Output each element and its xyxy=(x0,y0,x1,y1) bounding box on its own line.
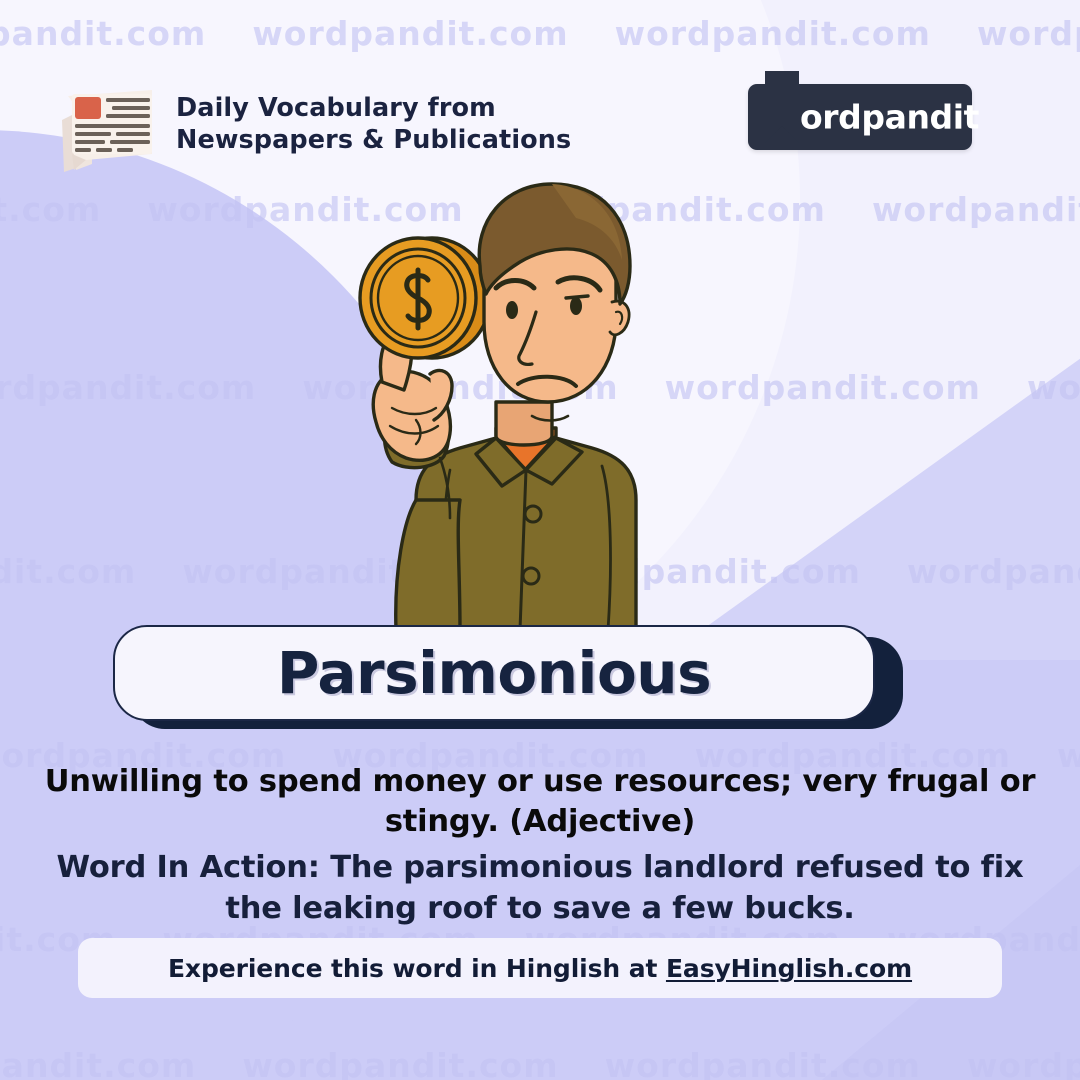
header-tagline: Daily Vocabulary from Newspapers & Publi… xyxy=(176,92,571,156)
hero-illustration xyxy=(320,170,720,630)
word-card: Parsimonious xyxy=(113,625,903,729)
wordpandit-logo[interactable]: ordpandit xyxy=(748,84,972,150)
word-card-body: Parsimonious xyxy=(113,625,875,721)
word-in-action-example: Word In Action: The parsimonious landlor… xyxy=(40,848,1040,929)
newspaper-icon xyxy=(52,74,160,174)
bookmark-icon xyxy=(765,71,799,143)
hinglish-banner[interactable]: Experience this word in Hinglish at Easy… xyxy=(78,938,1002,998)
header-tagline-line2: Newspapers & Publications xyxy=(176,124,571,156)
vocabulary-word: Parsimonious xyxy=(277,639,711,707)
banner-prefix: Experience this word in Hinglish at xyxy=(168,954,666,983)
header-tagline-line1: Daily Vocabulary from xyxy=(176,92,571,124)
poster-header: Daily Vocabulary from Newspapers & Publi… xyxy=(0,0,1080,180)
word-definition: Unwilling to spend money or use resource… xyxy=(40,762,1040,843)
logo-text: ordpandit xyxy=(800,98,979,137)
vocabulary-poster: wordpandit.comwordpandit.comwordpandit.c… xyxy=(0,0,1080,1080)
header-left-group: Daily Vocabulary from Newspapers & Publi… xyxy=(52,74,571,174)
easyhinglish-link[interactable]: EasyHinglish.com xyxy=(666,954,912,983)
banner-text: Experience this word in Hinglish at Easy… xyxy=(168,954,912,983)
